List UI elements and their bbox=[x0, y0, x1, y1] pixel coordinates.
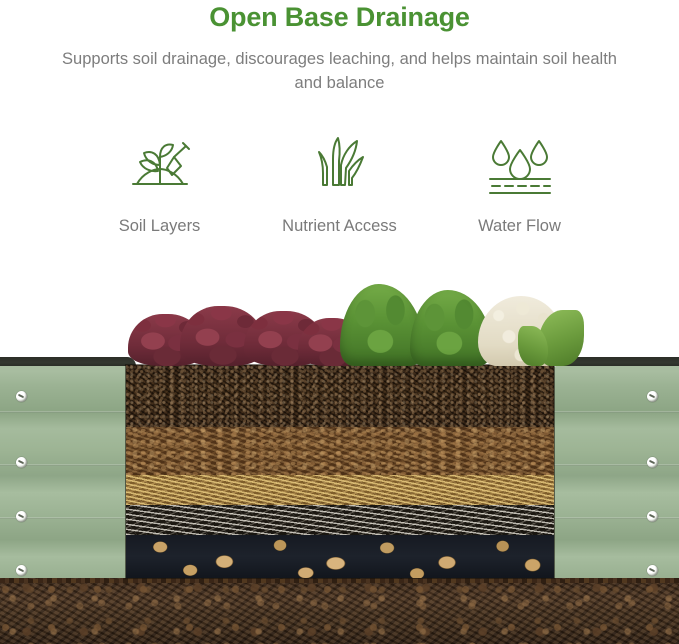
plant-with-shovel-icon bbox=[72, 134, 248, 198]
soil-layer-straw bbox=[126, 475, 554, 505]
soil-layer-compost-mulch bbox=[126, 427, 554, 475]
page-subtitle: Supports soil drainage, discourages leac… bbox=[50, 47, 630, 95]
panel-rib bbox=[0, 411, 136, 413]
panel-rib bbox=[548, 464, 679, 466]
soil-layer-topsoil bbox=[126, 365, 554, 427]
grass-blades-icon bbox=[252, 134, 428, 198]
bed-panel-right bbox=[548, 365, 679, 578]
panel-screw bbox=[16, 511, 27, 522]
plant-row bbox=[126, 278, 554, 366]
feature-item-soil-layers: Soil Layers bbox=[72, 134, 248, 238]
panel-rib bbox=[548, 411, 679, 413]
product-feature-graphic: Open Base Drainage Supports soil drainag… bbox=[0, 0, 679, 644]
panel-rib bbox=[548, 517, 679, 519]
header: Open Base Drainage Supports soil drainag… bbox=[0, 0, 679, 95]
feature-label: Nutrient Access bbox=[252, 214, 428, 238]
feature-label: Water Flow bbox=[432, 214, 608, 238]
panel-screw bbox=[647, 391, 658, 402]
panel-screw bbox=[647, 511, 658, 522]
ground-soil-strip bbox=[0, 578, 679, 644]
panel-screw bbox=[16, 565, 27, 576]
water-droplets-icon bbox=[432, 134, 608, 198]
panel-screw bbox=[647, 565, 658, 576]
soil-layer-logs bbox=[126, 535, 554, 578]
bed-panel-left bbox=[0, 365, 136, 578]
page-title: Open Base Drainage bbox=[0, 0, 679, 33]
raised-garden-bed-cross-section bbox=[0, 278, 679, 644]
panel-screw bbox=[16, 457, 27, 468]
soil-layer-stack bbox=[126, 365, 554, 578]
feature-item-nutrient-access: Nutrient Access bbox=[252, 134, 428, 238]
panel-screw bbox=[16, 391, 27, 402]
feature-label: Soil Layers bbox=[72, 214, 248, 238]
soil-layer-twigs bbox=[126, 505, 554, 535]
panel-screw bbox=[647, 457, 658, 468]
feature-item-water-flow: Water Flow bbox=[432, 134, 608, 238]
feature-list: Soil Layers Nutrient Access bbox=[0, 134, 679, 238]
